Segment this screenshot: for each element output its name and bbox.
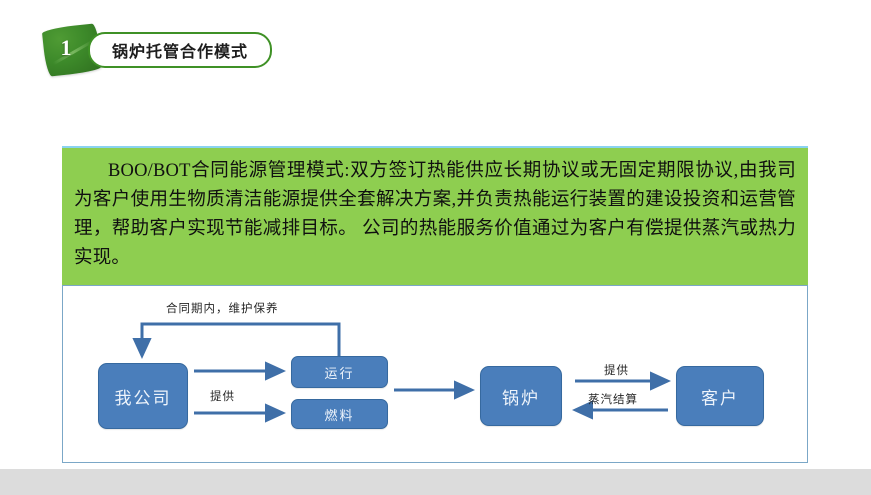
label-contract-maintenance: 合同期内，维护保养 [166,300,279,316]
node-operate-label: 运行 [324,363,354,382]
label-steam-settlement: 蒸汽结算 [588,391,638,407]
arrow-contract-loop [142,324,339,356]
body-paragraph: BOO/BOT合同能源管理模式:双方签订热能供应长期协议或无固定期限协议,由我司… [74,157,796,273]
page-bottom-strip [0,469,871,495]
node-client-label: 客户 [701,384,739,409]
label-provide-left: 提供 [210,388,235,404]
slide-canvas: 1 锅炉托管合作模式 BOO/BOT合同能源管理模式:双方签订热能供应长期协议或… [0,0,871,469]
node-company-label: 我公司 [115,384,172,409]
node-company[interactable]: 我公司 [98,363,188,429]
node-operate[interactable]: 运行 [291,356,388,388]
node-fuel[interactable]: 燃料 [291,399,388,429]
highlight-text-block: BOO/BOT合同能源管理模式:双方签订热能供应长期协议或无固定期限协议,由我司… [62,146,808,287]
section-number: 1 [38,24,94,72]
page-title: 锅炉托管合作模式 [112,38,248,62]
node-client[interactable]: 客户 [676,366,764,426]
slide-header: 1 锅炉托管合作模式 [38,24,338,76]
node-boiler[interactable]: 锅炉 [480,366,562,426]
section-title-pill: 锅炉托管合作模式 [88,32,272,68]
node-fuel-label: 燃料 [324,405,354,424]
node-boiler-label: 锅炉 [502,384,540,409]
process-diagram: 我公司 运行 燃料 锅炉 客户 合同期内，维护保养 提供 提供 蒸汽结算 [62,285,808,463]
label-provide-right: 提供 [604,362,629,378]
